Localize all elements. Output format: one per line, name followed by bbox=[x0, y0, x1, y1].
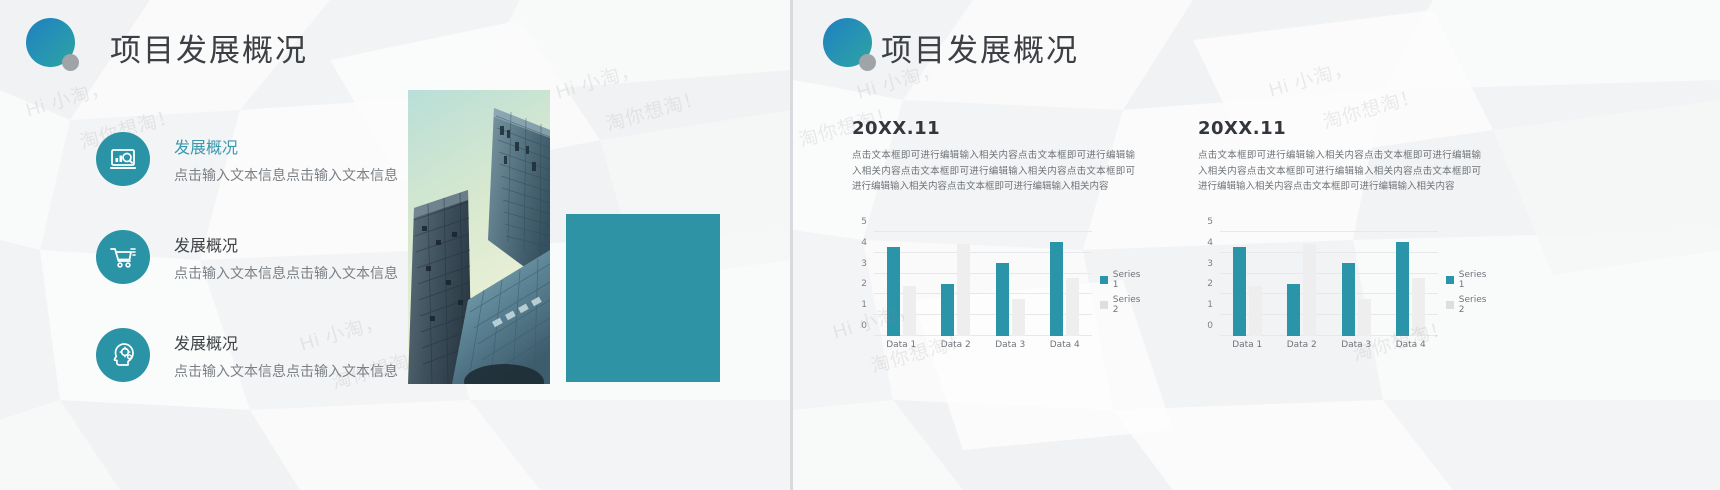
y-tick: 4 bbox=[861, 238, 867, 248]
feature-title: 发展概况 bbox=[174, 134, 398, 158]
feature-text-3: 发展概况 点击输入文本信息点击输入文本信息 bbox=[174, 330, 398, 381]
x-tick-label: Data 3 bbox=[1333, 340, 1379, 350]
legend-label: Series 1 bbox=[1459, 270, 1494, 290]
y-tick: 1 bbox=[861, 300, 867, 310]
bar-series1[interactable] bbox=[1233, 247, 1246, 336]
feature-text-2: 发展概况 点击输入文本信息点击输入文本信息 bbox=[174, 232, 398, 283]
x-tick-label: Data 4 bbox=[1042, 340, 1088, 350]
column-body-text: 点击文本框即可进行编辑输入相关内容点击文本框即可进行编辑输入相关内容点击文本框即… bbox=[852, 148, 1135, 195]
teal-accent-block bbox=[566, 214, 720, 382]
bar-group bbox=[1050, 232, 1079, 336]
y-tick: 3 bbox=[861, 259, 867, 269]
legend-label: Series 1 bbox=[1113, 270, 1148, 290]
brand-logo bbox=[823, 18, 881, 76]
y-tick: 0 bbox=[1207, 321, 1213, 331]
bar-series1[interactable] bbox=[887, 247, 900, 336]
feature-subtitle: 点击输入文本信息点击输入文本信息 bbox=[174, 263, 398, 283]
bar-group bbox=[1233, 232, 1262, 336]
bar-group bbox=[1342, 232, 1371, 336]
legend-item[interactable]: Series 2 bbox=[1100, 295, 1148, 315]
brand-logo bbox=[26, 18, 84, 76]
y-tick: 2 bbox=[861, 279, 867, 289]
bar-group bbox=[996, 232, 1025, 336]
chart-x-labels-2: Data 1 Data 2 Data 3 Data 4 bbox=[1220, 340, 1438, 350]
column-body-text: 点击文本框即可进行编辑输入相关内容点击文本框即可进行编辑输入相关内容点击文本框即… bbox=[1198, 148, 1481, 195]
y-tick: 2 bbox=[1207, 279, 1213, 289]
bar-series1[interactable] bbox=[1287, 284, 1300, 336]
slide-right[interactable]: Hi 小淘， 淘你想淘！ Hi 小淘， 淘你想淘！ Hi 小淘， 淘你想淘！ 淘… bbox=[790, 0, 1720, 490]
feature-item-1[interactable]: 发展概况 点击输入文本信息点击输入文本信息 bbox=[96, 132, 398, 186]
chart-monitor-icon bbox=[96, 132, 150, 186]
bar-series1[interactable] bbox=[1050, 242, 1063, 336]
page-title: 项目发展概况 bbox=[881, 25, 1079, 70]
bar-series2[interactable] bbox=[1412, 278, 1425, 336]
slide-header-right: 项目发展概况 bbox=[823, 18, 1079, 76]
chart-bars-2 bbox=[1220, 232, 1438, 336]
legend-swatch-series2 bbox=[1100, 301, 1108, 309]
brand-accent-dot-icon bbox=[859, 54, 876, 71]
column-date: 20XX.11 bbox=[1198, 118, 1481, 139]
x-tick-label: Data 1 bbox=[1224, 340, 1270, 350]
bar-series1[interactable] bbox=[996, 263, 1009, 336]
bar-group bbox=[941, 232, 970, 336]
x-tick-label: Data 2 bbox=[933, 340, 979, 350]
x-tick-label: Data 1 bbox=[878, 340, 924, 350]
chart-plot-area-1: 5 4 3 2 1 0 bbox=[874, 232, 1092, 336]
y-tick: 5 bbox=[1207, 217, 1213, 227]
bar-group bbox=[1396, 232, 1425, 336]
bar-series1[interactable] bbox=[1396, 242, 1409, 336]
y-tick: 5 bbox=[861, 217, 867, 227]
legend-swatch-series2 bbox=[1446, 301, 1454, 309]
bar-series2[interactable] bbox=[1303, 244, 1316, 336]
legend-label: Series 2 bbox=[1459, 295, 1494, 315]
legend-swatch-series1 bbox=[1446, 276, 1454, 284]
legend-swatch-series1 bbox=[1100, 276, 1108, 284]
content-column-2: 20XX.11 点击文本框即可进行编辑输入相关内容点击文本框即可进行编辑输入相关… bbox=[1198, 118, 1481, 195]
feature-subtitle: 点击输入文本信息点击输入文本信息 bbox=[174, 165, 398, 185]
page-title: 项目发展概况 bbox=[110, 25, 308, 70]
slide-left[interactable]: Hi 小淘， 淘你想淘！ Hi 小淘， 淘你想淘！ Hi 小淘， 淘你想淘！ 项… bbox=[0, 0, 790, 490]
feature-title: 发展概况 bbox=[174, 232, 398, 256]
bar-series1[interactable] bbox=[1342, 263, 1355, 336]
bar-group bbox=[887, 232, 916, 336]
feature-subtitle: 点击输入文本信息点击输入文本信息 bbox=[174, 361, 398, 381]
bar-chart-1[interactable]: 5 4 3 2 1 0 Data 1 Data 2 Data 3 Data 4 bbox=[848, 228, 1148, 358]
y-tick: 4 bbox=[1207, 238, 1213, 248]
x-tick-label: Data 4 bbox=[1388, 340, 1434, 350]
chart-bars-1 bbox=[874, 232, 1092, 336]
bar-series1[interactable] bbox=[941, 284, 954, 336]
bar-series2[interactable] bbox=[1066, 278, 1079, 336]
head-gear-icon bbox=[96, 328, 150, 382]
shopping-cart-icon bbox=[96, 230, 150, 284]
y-tick: 0 bbox=[861, 321, 867, 331]
bar-group bbox=[1287, 232, 1316, 336]
bar-series2[interactable] bbox=[1012, 299, 1025, 336]
bar-series2[interactable] bbox=[903, 286, 916, 336]
bar-chart-2[interactable]: 5 4 3 2 1 0 Data 1 Data 2 Data 3 Data 4 bbox=[1194, 228, 1494, 358]
column-date: 20XX.11 bbox=[852, 118, 1135, 139]
chart-legend-2: Series 1 Series 2 bbox=[1446, 270, 1494, 320]
feature-item-3[interactable]: 发展概况 点击输入文本信息点击输入文本信息 bbox=[96, 328, 398, 382]
slide-pair-screenshot: Hi 小淘， 淘你想淘！ Hi 小淘， 淘你想淘！ Hi 小淘， 淘你想淘！ 项… bbox=[0, 0, 1720, 490]
x-tick-label: Data 2 bbox=[1279, 340, 1325, 350]
bar-series2[interactable] bbox=[1249, 286, 1262, 336]
legend-item[interactable]: Series 1 bbox=[1446, 270, 1494, 290]
x-tick-label: Data 3 bbox=[987, 340, 1033, 350]
chart-x-labels-1: Data 1 Data 2 Data 3 Data 4 bbox=[874, 340, 1092, 350]
chart-legend-1: Series 1 Series 2 bbox=[1100, 270, 1148, 320]
legend-item[interactable]: Series 2 bbox=[1446, 295, 1494, 315]
feature-item-2[interactable]: 发展概况 点击输入文本信息点击输入文本信息 bbox=[96, 230, 398, 284]
brand-accent-dot-icon bbox=[62, 54, 79, 71]
feature-title: 发展概况 bbox=[174, 330, 398, 354]
slide-header-left: 项目发展概况 bbox=[26, 18, 308, 76]
skyscraper-photo bbox=[408, 90, 550, 384]
y-tick: 1 bbox=[1207, 300, 1213, 310]
bar-series2[interactable] bbox=[957, 244, 970, 336]
bar-series2[interactable] bbox=[1358, 299, 1371, 336]
feature-text-1: 发展概况 点击输入文本信息点击输入文本信息 bbox=[174, 134, 398, 185]
legend-item[interactable]: Series 1 bbox=[1100, 270, 1148, 290]
content-column-1: 20XX.11 点击文本框即可进行编辑输入相关内容点击文本框即可进行编辑输入相关… bbox=[852, 118, 1135, 195]
y-tick: 3 bbox=[1207, 259, 1213, 269]
chart-plot-area-2: 5 4 3 2 1 0 bbox=[1220, 232, 1438, 336]
legend-label: Series 2 bbox=[1113, 295, 1148, 315]
